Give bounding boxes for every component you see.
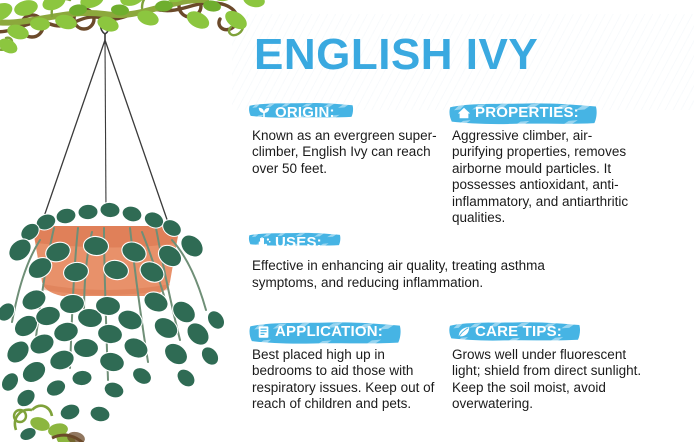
application-body-text: Best placed high up in bedrooms to aid t… (252, 347, 442, 413)
leaf-icon (457, 325, 471, 339)
properties-body-text: Aggressive climber, air-purifying proper… (452, 128, 642, 226)
origin-body-text: Known as an evergreen super-climber, Eng… (252, 128, 438, 177)
sprout-icon (257, 106, 271, 120)
section-properties: PROPERTIES: Aggressive climber, air-puri… (452, 103, 642, 226)
care-tips-body-text: Grows well under fluorescent light; shie… (452, 347, 648, 413)
care-tips-heading-badge: CARE TIPS: (452, 322, 572, 342)
uses-heading-label: USES: (275, 235, 322, 251)
page-title: ENGLISH IVY (254, 33, 538, 77)
properties-heading-badge: PROPERTIES: (452, 103, 589, 123)
application-heading-badge: APPLICATION: (252, 322, 393, 342)
uses-body-text: Effective in enhancing air quality, trea… (252, 258, 592, 291)
section-origin: ORIGIN: Known as an evergreen super-clim… (252, 103, 438, 177)
application-heading-label: APPLICATION: (275, 324, 383, 340)
hanging-ivy-illustration (0, 0, 250, 442)
origin-heading-badge: ORIGIN: (252, 103, 345, 123)
english-ivy-infographic: ENGLISH IVY (0, 0, 694, 442)
home-icon (457, 106, 471, 120)
section-uses: USES: Effective in enhancing air quality… (252, 233, 592, 291)
ivy-leaves-pot (4, 201, 207, 286)
ivy-leaves-trailing (0, 286, 228, 424)
section-care-tips: CARE TIPS: Grows well under fluorescent … (452, 322, 648, 413)
spray-hand-icon (257, 236, 271, 250)
properties-heading-label: PROPERTIES: (475, 105, 579, 121)
section-application: APPLICATION: Best placed high up in bedr… (252, 322, 442, 413)
origin-heading-label: ORIGIN: (275, 105, 335, 121)
care-tips-heading-label: CARE TIPS: (475, 324, 562, 340)
book-icon (257, 325, 271, 339)
hanging-ivy-svg (0, 0, 250, 442)
uses-heading-badge: USES: (252, 233, 332, 253)
